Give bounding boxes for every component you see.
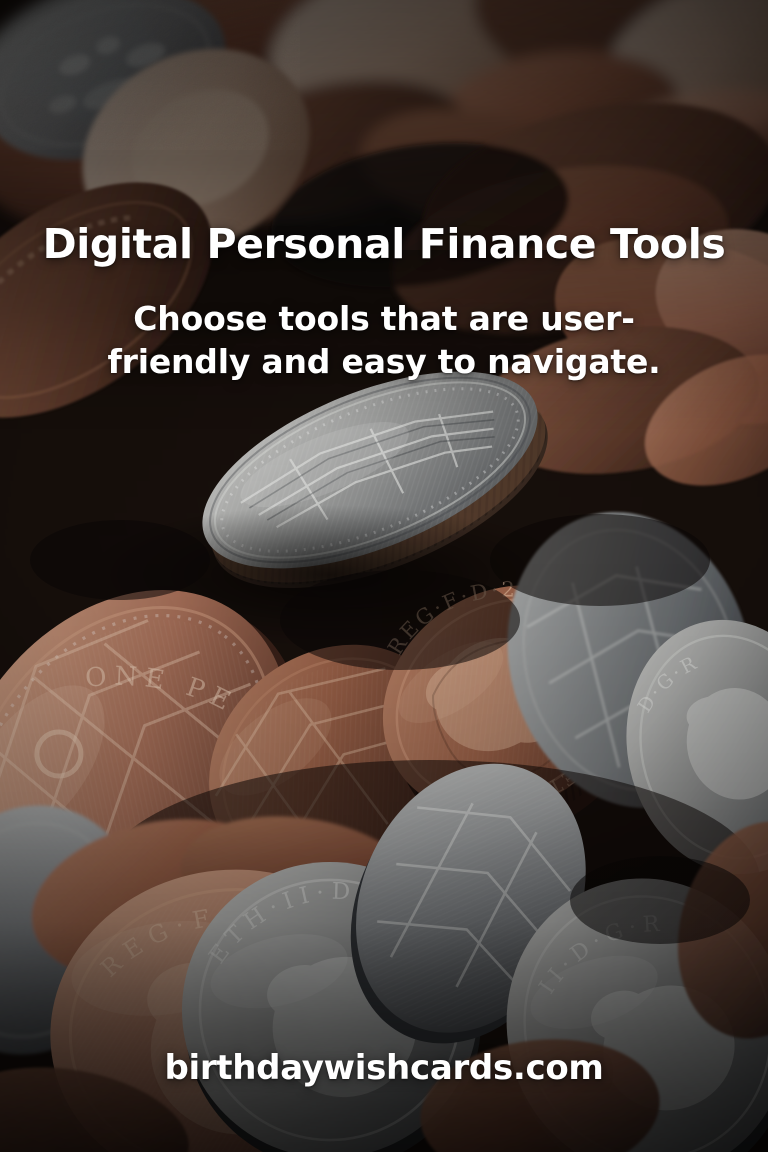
text-layer: Digital Personal Finance Tools Choose to… bbox=[0, 0, 768, 1152]
website-watermark: birthdaywishcards.com bbox=[0, 1048, 768, 1088]
subtitle-line-1: Choose tools that are user- bbox=[133, 299, 634, 338]
social-card: ONE PENNY bbox=[0, 0, 768, 1152]
subtitle-line-2: friendly and easy to navigate. bbox=[107, 342, 660, 381]
page-title: Digital Personal Finance Tools bbox=[0, 222, 768, 266]
subtitle: Choose tools that are user- friendly and… bbox=[84, 298, 684, 384]
